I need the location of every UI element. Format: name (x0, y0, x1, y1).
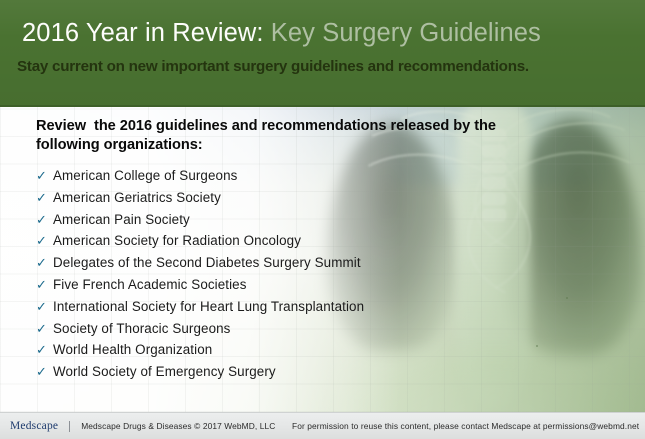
footer-permission-notice: For permission to reuse this content, pl… (292, 421, 639, 431)
slide-footer: Medscape Medscape Drugs & Diseases © 201… (0, 412, 645, 439)
list-item: ✓ World Health Organization (36, 339, 364, 361)
list-item: ✓ Society of Thoracic Surgeons (36, 318, 364, 340)
list-item-label: World Health Organization (53, 339, 212, 361)
list-item: ✓ Delegates of the Second Diabetes Surge… (36, 252, 364, 274)
list-item-label: International Society for Heart Lung Tra… (53, 296, 364, 318)
list-item-label: American College of Surgeons (53, 165, 237, 187)
check-icon: ✓ (36, 318, 53, 340)
list-item: ✓ American Pain Society (36, 209, 364, 231)
page-subtitle: Stay current on new important surgery gu… (17, 57, 529, 77)
organization-list: ✓ American College of Surgeons ✓ America… (36, 165, 364, 383)
check-icon: ✓ (36, 187, 53, 209)
list-item-label: American Geriatrics Society (53, 187, 221, 209)
list-item-label: Five French Academic Societies (53, 274, 247, 296)
header-gradient-overlay (0, 0, 645, 107)
list-item-label: American Pain Society (53, 209, 190, 231)
page-title-main: 2016 Year in Review: (22, 19, 264, 47)
check-icon: ✓ (36, 274, 53, 296)
footer-copyright: Medscape Drugs & Diseases © 2017 WebMD, … (81, 421, 275, 431)
medscape-logo[interactable]: Medscape (10, 420, 58, 432)
lead-paragraph: Review the 2016 guidelines and recommend… (36, 117, 526, 154)
list-item: ✓ Five French Academic Societies (36, 274, 364, 296)
check-icon: ✓ (36, 165, 53, 187)
slide-container: 2016 Year in Review: Key Surgery Guideli… (0, 0, 645, 439)
slide-header: 2016 Year in Review: Key Surgery Guideli… (0, 0, 645, 107)
list-item-label: Delegates of the Second Diabetes Surgery… (53, 252, 361, 274)
body-content: Review the 2016 guidelines and recommend… (0, 107, 645, 412)
list-item: ✓ American College of Surgeons (36, 165, 364, 187)
list-item: ✓ American Geriatrics Society (36, 187, 364, 209)
footer-divider (69, 421, 70, 432)
check-icon: ✓ (36, 296, 53, 318)
slide-body: Review the 2016 guidelines and recommend… (0, 107, 645, 412)
list-item-label: American Society for Radiation Oncology (53, 230, 301, 252)
list-item-label: Society of Thoracic Surgeons (53, 318, 230, 340)
check-icon: ✓ (36, 230, 53, 252)
check-icon: ✓ (36, 252, 53, 274)
list-item-label: World Society of Emergency Surgery (53, 361, 276, 383)
page-title: 2016 Year in Review: Key Surgery Guideli… (22, 18, 541, 48)
check-icon: ✓ (36, 339, 53, 361)
list-item: ✓ World Society of Emergency Surgery (36, 361, 364, 383)
list-item: ✓ International Society for Heart Lung T… (36, 296, 364, 318)
check-icon: ✓ (36, 361, 53, 383)
page-title-accent: Key Surgery Guidelines (271, 19, 541, 47)
list-item: ✓ American Society for Radiation Oncolog… (36, 230, 364, 252)
check-icon: ✓ (36, 209, 53, 231)
